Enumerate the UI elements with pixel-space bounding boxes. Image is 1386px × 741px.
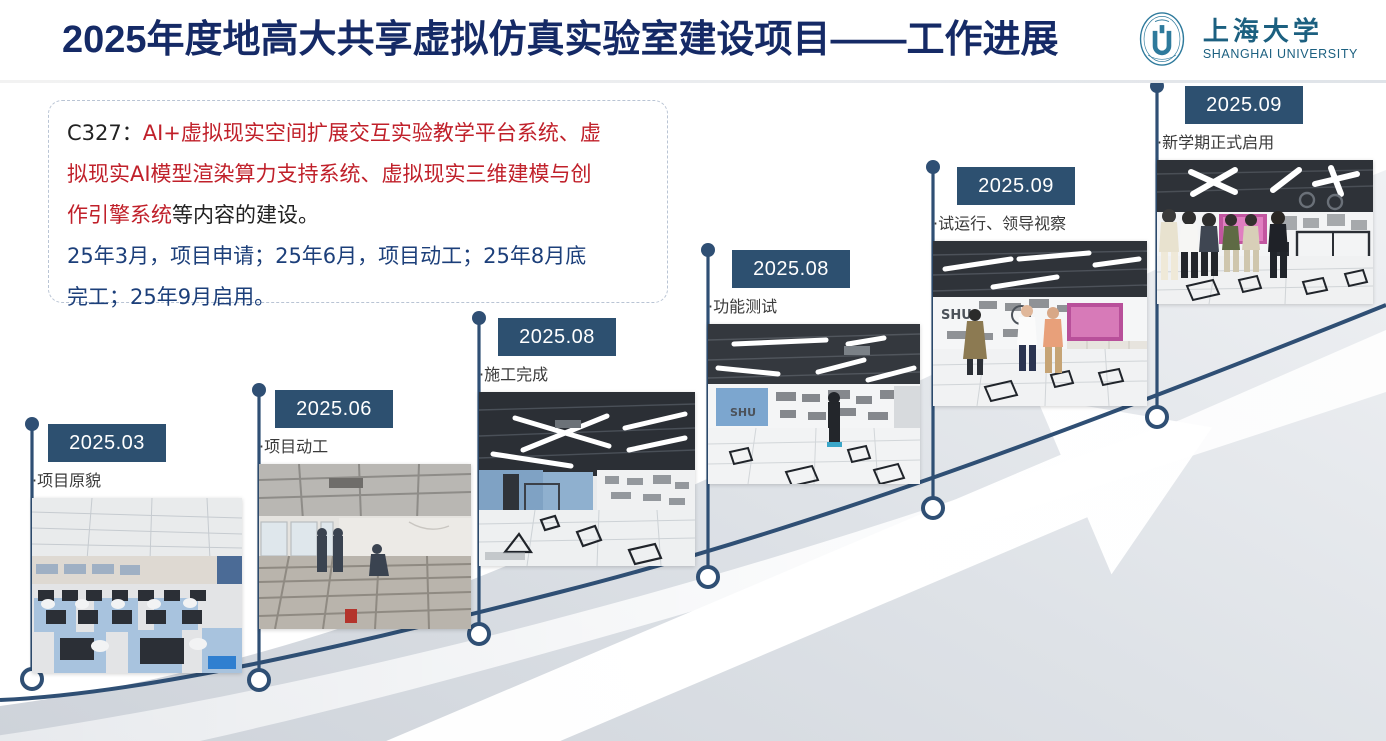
photo-semester-launch bbox=[1157, 160, 1373, 304]
svg-text:SHU: SHU bbox=[941, 308, 972, 323]
milestone-date-badge: 2025.09 bbox=[1185, 86, 1303, 124]
slide-header: 2025年度地高大共享虚拟仿真实验室建设项目——工作进展 上海大学 SHANGH… bbox=[0, 0, 1386, 80]
milestone-caption: ·项目动工 bbox=[259, 436, 471, 458]
milestone-caption: ·功能测试 bbox=[708, 296, 920, 318]
photo-function-test: SHU bbox=[708, 324, 920, 484]
milestone-caption: ·施工完成 bbox=[479, 364, 695, 386]
callout-line-3: 作引擎系统等内容的建设。 bbox=[67, 195, 651, 236]
milestone-card-1[interactable]: 2025.03 ·项目原貌 bbox=[32, 424, 242, 673]
logo-name-en: SHANGHAI UNIVERSITY bbox=[1203, 47, 1358, 62]
milestone-caption: ·试运行、领导视察 bbox=[933, 213, 1147, 235]
callout-line3-dark: 等内容的建设。 bbox=[172, 203, 319, 227]
callout-line1-red: AI+虚拟现实空间扩展交互实验教学平台系统、虚 bbox=[143, 121, 601, 145]
project-description-callout: C327：AI+虚拟现实空间扩展交互实验教学平台系统、虚 拟现实AI模型渲染算力… bbox=[48, 100, 668, 303]
callout-code-label: C327： bbox=[67, 121, 143, 145]
shanghai-university-seal-icon bbox=[1133, 10, 1191, 68]
milestone-card-6[interactable]: 2025.09 ·新学期正式启用 bbox=[1157, 86, 1373, 304]
header-divider bbox=[0, 80, 1386, 83]
milestone-date-badge: 2025.08 bbox=[498, 318, 616, 356]
milestone-date-badge: 2025.08 bbox=[732, 250, 850, 288]
milestone-card-3[interactable]: 2025.08 ·施工完成 bbox=[479, 318, 695, 566]
milestone-card-2[interactable]: 2025.06 ·项目动工 bbox=[259, 390, 471, 629]
photo-original-lab bbox=[32, 498, 242, 673]
milestone-caption: ·新学期正式启用 bbox=[1157, 132, 1373, 154]
page-title: 2025年度地高大共享虚拟仿真实验室建设项目——工作进展 bbox=[62, 16, 1059, 64]
svg-text:SHU: SHU bbox=[730, 406, 756, 419]
logo-name-cn: 上海大学 bbox=[1203, 17, 1358, 47]
photo-trial-inspection: SHU bbox=[933, 241, 1147, 406]
milestone-date-badge: 2025.06 bbox=[275, 390, 393, 428]
milestone-caption: ·项目原貌 bbox=[32, 470, 242, 492]
university-logo: 上海大学 SHANGHAI UNIVERSITY bbox=[1133, 8, 1358, 70]
callout-line-5: 完工；25年9月启用。 bbox=[67, 277, 651, 318]
callout-line-4: 25年3月，项目申请；25年6月，项目动工；25年8月底 bbox=[67, 236, 651, 277]
slide-root: 2025年度地高大共享虚拟仿真实验室建设项目——工作进展 上海大学 SHANGH… bbox=[0, 0, 1386, 741]
milestone-date-badge: 2025.09 bbox=[957, 167, 1075, 205]
milestone-card-4[interactable]: 2025.08 ·功能测试 bbox=[708, 250, 920, 484]
milestone-date-badge: 2025.03 bbox=[48, 424, 166, 462]
logo-text-block: 上海大学 SHANGHAI UNIVERSITY bbox=[1203, 17, 1358, 62]
callout-line-1: C327：AI+虚拟现实空间扩展交互实验教学平台系统、虚 bbox=[67, 113, 651, 154]
photo-construction-done bbox=[479, 392, 695, 566]
callout-line3-red: 作引擎系统 bbox=[67, 203, 172, 227]
milestone-card-5[interactable]: 2025.09 ·试运行、领导视察 SHU bbox=[933, 167, 1147, 406]
callout-line-2: 拟现实AI模型渲染算力支持系统、虚拟现实三维建模与创 bbox=[67, 154, 651, 195]
photo-construction-start bbox=[259, 464, 471, 629]
